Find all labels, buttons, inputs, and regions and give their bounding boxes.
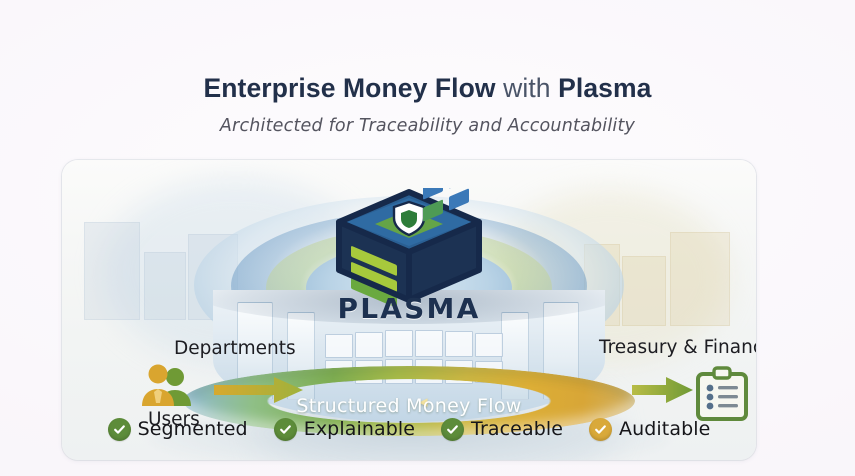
page-title-connector: with (496, 73, 558, 103)
inflow-arrow (214, 374, 304, 411)
attribute-badge-row: Segmented Explainable Traceable Auditabl… (62, 408, 756, 450)
badge-explainable[interactable]: Explainable (274, 418, 415, 441)
badge-segmented[interactable]: Segmented (108, 418, 248, 441)
badge-auditable[interactable]: Auditable (589, 418, 710, 441)
check-circle-icon (441, 418, 464, 441)
platform-window (415, 330, 443, 357)
background-building (84, 222, 140, 320)
background-building (670, 232, 730, 326)
plasma-wordmark: PLASMA (259, 292, 559, 325)
badge-label: Segmented (138, 418, 248, 440)
outflow-arrow (632, 374, 694, 411)
departments-label: Departments (174, 338, 296, 359)
check-circle-icon (589, 418, 612, 441)
page-title: Enterprise Money Flow with Plasma (0, 72, 855, 104)
plasma-isometric-cube (333, 188, 485, 308)
treasury-finance-label: Treasury & Finance (599, 337, 756, 358)
badge-label: Explainable (304, 418, 415, 440)
badge-label: Auditable (619, 418, 710, 440)
illustration-card: ◂ ▸ Structured Money Flow (62, 160, 756, 460)
users-icon (140, 364, 196, 411)
page-title-part1: Enterprise Money Flow (203, 73, 495, 103)
page-title-part2: Plasma (558, 73, 651, 103)
check-circle-icon (108, 418, 131, 441)
platform-window (355, 332, 383, 358)
check-circle-icon (274, 418, 297, 441)
platform-window (325, 334, 353, 358)
badge-traceable[interactable]: Traceable (441, 418, 563, 441)
background-building (144, 252, 186, 320)
header: Enterprise Money Flow with Plasma Archit… (0, 72, 855, 137)
diagram-page: Enterprise Money Flow with Plasma Archit… (0, 0, 855, 476)
page-subtitle: Architected for Traceability and Account… (0, 115, 855, 137)
platform-window (475, 333, 503, 357)
badge-label: Traceable (471, 418, 563, 440)
platform-window (445, 331, 473, 357)
platform-window (385, 330, 413, 357)
background-building (622, 256, 666, 326)
